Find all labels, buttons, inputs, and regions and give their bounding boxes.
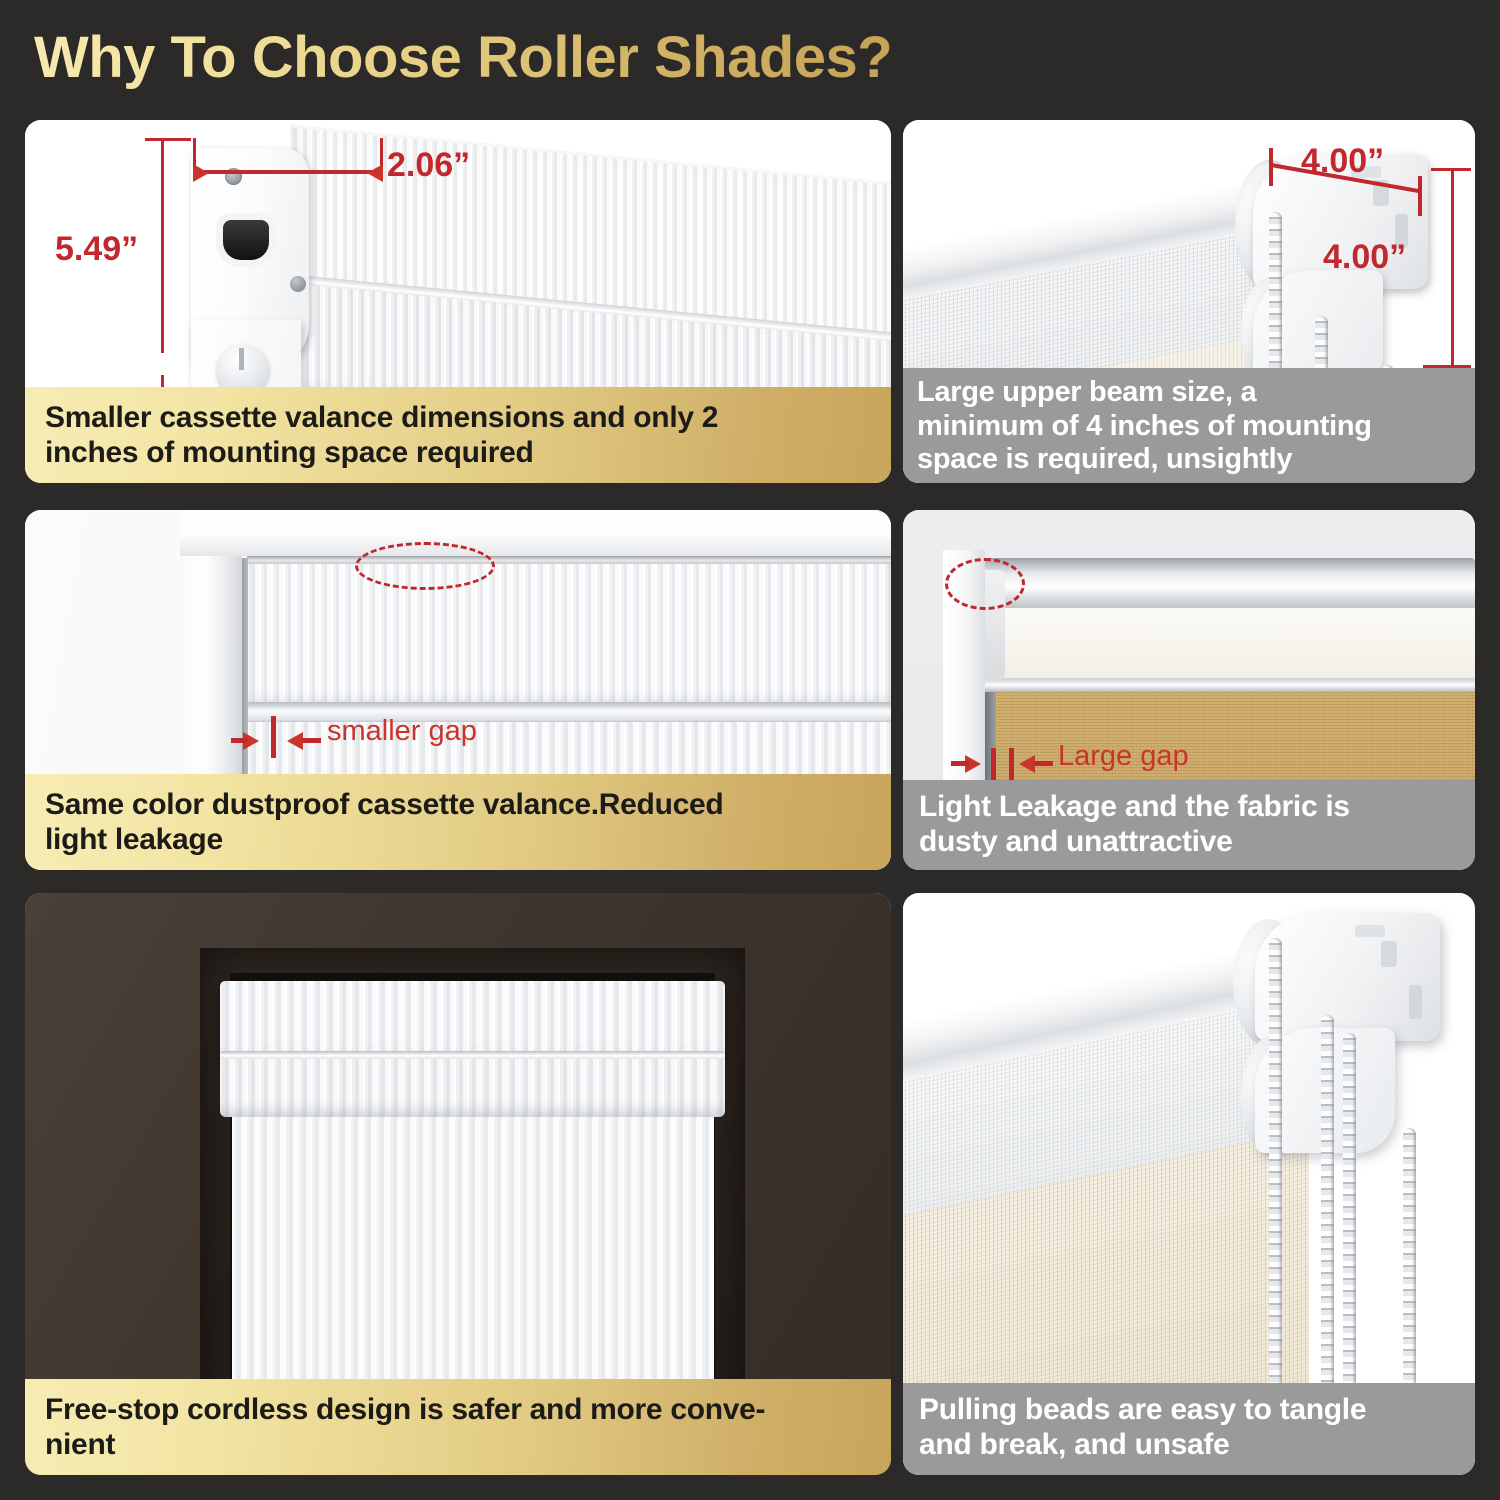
dimension-arrow-right	[193, 164, 209, 182]
gap-arrow-shaft	[951, 761, 969, 766]
infographic-root: Why To Choose Roller Shades? 2.06”	[0, 0, 1500, 1500]
valance-lower	[220, 1059, 725, 1117]
highlight-ellipse	[355, 542, 495, 590]
caption-line: and break, and unsafe	[919, 1428, 1459, 1463]
caption-line: Pulling beads are easy to tangle	[919, 1393, 1459, 1428]
gap-arrow-left	[287, 732, 303, 750]
gap-callout-label: smaller gap	[327, 715, 477, 748]
beam-width-label: 4.00”	[1301, 142, 1384, 181]
caption-line: Light Leakage and the fabric is	[919, 790, 1459, 825]
caption-line: minimum of 4 inches of mounting	[917, 410, 1461, 444]
gap-callout-label: Large gap	[1058, 740, 1189, 773]
caption-line: light leakage	[45, 823, 871, 858]
panel-free-stop-cordless-design: Free-stop cordless design is safer and m…	[25, 893, 891, 1475]
dimension-line-height	[1451, 168, 1454, 368]
panel-1-caption: Smaller cassette valance dimensions and …	[25, 387, 891, 483]
panel-3-caption: Same color dustproof cassette valance.Re…	[25, 774, 891, 870]
shade-white-band	[985, 608, 1475, 680]
shade-lip	[985, 678, 1475, 692]
dimension-line-height	[161, 138, 164, 353]
mounting-bracket	[1255, 913, 1440, 1041]
gap-tick	[1009, 748, 1014, 782]
panel-light-leakage-dusty-fabric: Large gap Light Leakage and the fabric i…	[903, 510, 1475, 870]
highlight-ellipse	[945, 558, 1025, 610]
caption-line: Free-stop cordless design is safer and m…	[45, 1393, 871, 1428]
gap-arrow-left	[1019, 755, 1035, 773]
screw-icon	[290, 276, 306, 292]
caption-line: nient	[45, 1428, 871, 1463]
dimension-tick-right	[1418, 176, 1422, 216]
dimension-cap-top	[145, 138, 191, 141]
caption-line: Large upper beam size, a	[917, 376, 1461, 410]
valance-slot	[223, 220, 269, 260]
bead-chain	[1343, 1033, 1356, 1391]
panel-2-caption: Large upper beam size, a minimum of 4 in…	[903, 368, 1475, 483]
roller-tube	[985, 558, 1475, 610]
gap-arrow-shaft	[1035, 761, 1053, 766]
gap-arrow-shaft	[303, 738, 321, 743]
dimension-line-width	[193, 170, 383, 174]
caption-line: Same color dustproof cassette valance.Re…	[45, 788, 871, 823]
gap-arrow-shaft	[231, 738, 247, 743]
bracket-slot	[1409, 985, 1422, 1019]
caption-line: Smaller cassette valance dimensions and …	[45, 401, 871, 436]
shade-upper	[247, 558, 891, 708]
window-frame-top	[180, 510, 891, 556]
panel-large-upper-beam: 4.00” 4.00” Large upper beam size, a min…	[903, 120, 1475, 483]
panel-5-caption: Free-stop cordless design is safer and m…	[25, 1379, 891, 1475]
panel-4-caption: Light Leakage and the fabric is dusty an…	[903, 780, 1475, 870]
bracket-slot	[1381, 941, 1397, 967]
dimension-arrow-left	[367, 164, 383, 182]
bead-chain	[1269, 938, 1282, 1388]
width-dimension-label: 2.06”	[387, 146, 470, 185]
bead-chain	[1321, 1015, 1334, 1390]
page-title: Why To Choose Roller Shades?	[34, 24, 892, 91]
panel-cassette-valance-dimensions: 2.06” 5.49” Smaller cassette valance dim…	[25, 120, 891, 483]
gap-tick	[991, 748, 996, 782]
caption-line: dusty and unattractive	[919, 825, 1459, 860]
panel-6-caption: Pulling beads are easy to tangle and bre…	[903, 1383, 1475, 1475]
height-dimension-label: 5.49”	[55, 230, 138, 269]
beam-height-label: 4.00”	[1323, 238, 1406, 277]
bead-chain	[1403, 1128, 1416, 1390]
panel-pulling-beads-tangle: Pulling beads are easy to tangle and bre…	[903, 893, 1475, 1475]
gap-tick	[271, 716, 276, 758]
bracket-slot	[1355, 925, 1385, 937]
caption-line: space is required, unsightly	[917, 443, 1461, 477]
panel-dustproof-cassette-valance: smaller gap Same color dustproof cassett…	[25, 510, 891, 870]
dimension-cap-top	[1431, 168, 1471, 171]
caption-line: inches of mounting space required	[45, 436, 871, 471]
shade-rail	[247, 556, 891, 564]
